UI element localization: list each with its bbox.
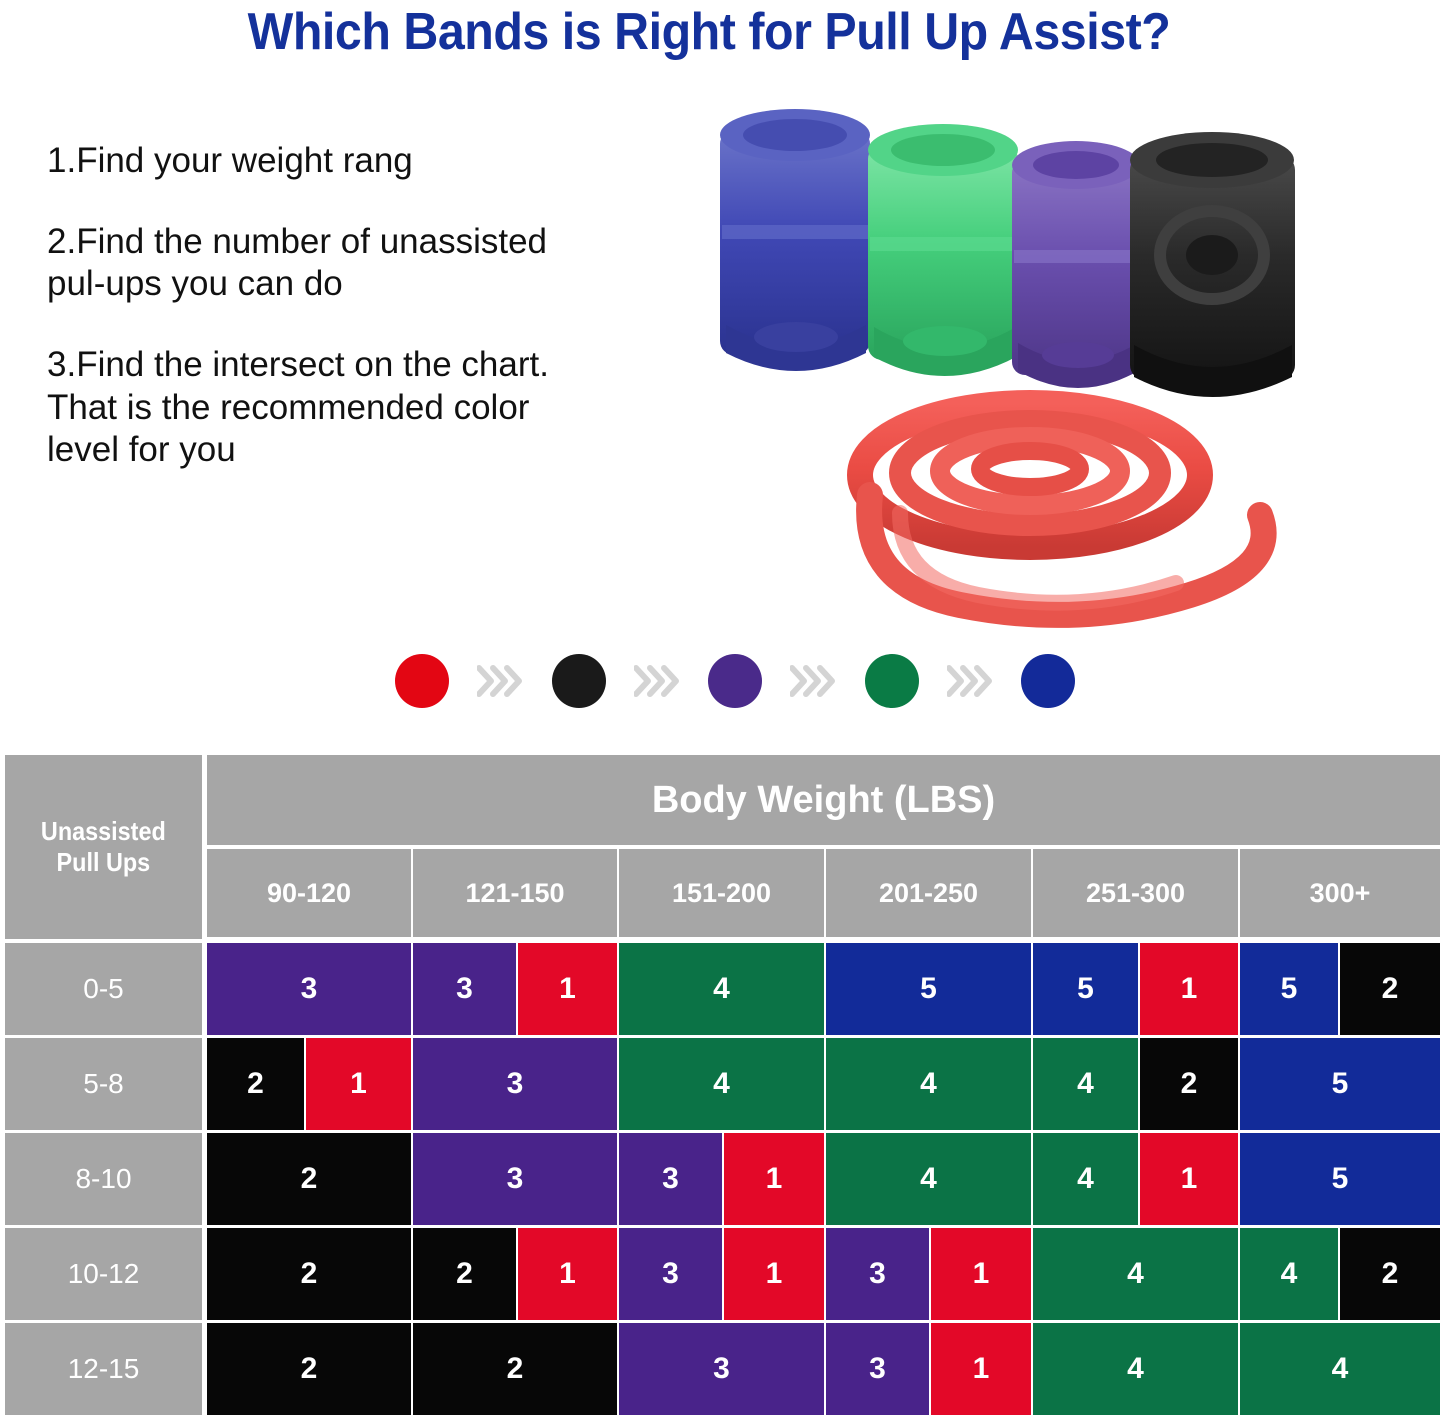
chart-cell-black: 2 xyxy=(1140,1038,1238,1130)
chevron-right-triple-icon-1 xyxy=(477,664,523,698)
chart-cell-red: 1 xyxy=(518,943,617,1035)
band-roll-black xyxy=(1130,132,1295,397)
chart-column-header: 121-150 xyxy=(413,849,617,937)
chart-cell-red: 1 xyxy=(306,1038,411,1130)
band-roll-green xyxy=(868,124,1018,376)
chart-cell-green: 4 xyxy=(1033,1038,1138,1130)
chart-column-header: 251-300 xyxy=(1033,849,1238,937)
instruction-step-3: 3.Find the intersect on the chart. That … xyxy=(47,344,727,472)
chart-cell-green: 4 xyxy=(1033,1228,1238,1320)
instruction-step-2: 2.Find the number of unassisted pul-ups … xyxy=(47,221,727,306)
chart-cell-purple: 3 xyxy=(619,1323,824,1415)
chart-cell-purple: 3 xyxy=(413,943,516,1035)
chevron-right-triple-icon-4 xyxy=(947,664,993,698)
chart-cell-black: 2 xyxy=(1340,943,1440,1035)
chart-row-label: 5-8 xyxy=(5,1038,202,1130)
chart-cell-black: 2 xyxy=(1340,1228,1440,1320)
purple-band-dot xyxy=(708,654,762,708)
green-band-dot xyxy=(865,654,919,708)
resistance-bands-photo xyxy=(700,75,1360,635)
chevron-right-triple-icon-2 xyxy=(634,664,680,698)
chart-cell-purple: 3 xyxy=(826,1323,929,1415)
chart-cell-green: 4 xyxy=(826,1038,1031,1130)
chart-cell-red: 1 xyxy=(518,1228,617,1320)
chart-cell-red: 1 xyxy=(724,1228,824,1320)
chart-cell-black: 2 xyxy=(207,1228,411,1320)
chart-column-header: 151-200 xyxy=(619,849,824,937)
chart-column-header: 300+ xyxy=(1240,849,1440,937)
page-title: Which Bands is Right for Pull Up Assist? xyxy=(50,2,1369,62)
chart-body-weight-header: Body Weight (LBS) xyxy=(207,755,1440,845)
chart-cell-purple: 3 xyxy=(619,1228,722,1320)
chart-row-label: 10-12 xyxy=(5,1228,202,1320)
chart-column-header: 90-120 xyxy=(207,849,411,937)
chart-cell-blue: 5 xyxy=(1240,1038,1440,1130)
black-band-dot xyxy=(552,654,606,708)
chart-cell-red: 1 xyxy=(1140,1133,1238,1225)
chart-cell-green: 4 xyxy=(619,943,824,1035)
band-color-legend xyxy=(395,648,1075,714)
chart-cell-red: 1 xyxy=(931,1228,1031,1320)
band-roll-purple xyxy=(1012,141,1140,388)
instruction-list: 1.Find your weight rang 2.Find the numbe… xyxy=(47,140,727,510)
red-band-dot xyxy=(395,654,449,708)
chart-cell-blue: 5 xyxy=(1240,1133,1440,1225)
chart-cell-black: 2 xyxy=(207,1133,411,1225)
band-roll-blue xyxy=(720,109,870,371)
chart-row-label: 8-10 xyxy=(5,1133,202,1225)
chart-row-label: 0-5 xyxy=(5,943,202,1035)
chart-cell-black: 2 xyxy=(413,1323,617,1415)
chart-cell-purple: 3 xyxy=(413,1038,617,1130)
chart-cell-green: 4 xyxy=(619,1038,824,1130)
chart-cell-blue: 5 xyxy=(1033,943,1138,1035)
chart-cell-green: 4 xyxy=(1240,1323,1440,1415)
blue-band-dot xyxy=(1021,654,1075,708)
chart-corner-header: UnassistedPull Ups xyxy=(5,755,202,939)
chart-cell-black: 2 xyxy=(207,1038,304,1130)
chart-cell-green: 4 xyxy=(826,1133,1031,1225)
chart-cell-purple: 3 xyxy=(207,943,411,1035)
chart-cell-green: 4 xyxy=(1240,1228,1338,1320)
chart-cell-purple: 3 xyxy=(826,1228,929,1320)
chart-cell-purple: 3 xyxy=(619,1133,722,1225)
bands-illustration xyxy=(700,75,1360,635)
chart-column-header: 201-250 xyxy=(826,849,1031,937)
chart-cell-blue: 5 xyxy=(1240,943,1338,1035)
chart-cell-black: 2 xyxy=(207,1323,411,1415)
chevron-right-triple-icon-3 xyxy=(790,664,836,698)
chart-cell-red: 1 xyxy=(724,1133,824,1225)
band-selection-chart: UnassistedPull Ups Body Weight (LBS) 90-… xyxy=(0,752,1445,1419)
instruction-step-1: 1.Find your weight rang xyxy=(47,140,727,183)
chart-cell-purple: 3 xyxy=(413,1133,617,1225)
chart-cell-red: 1 xyxy=(931,1323,1031,1415)
band-coil-red xyxy=(860,403,1264,615)
chart-cell-black: 2 xyxy=(413,1228,516,1320)
chart-cell-red: 1 xyxy=(1140,943,1238,1035)
chart-cell-green: 4 xyxy=(1033,1323,1238,1415)
chart-cell-green: 4 xyxy=(1033,1133,1138,1225)
chart-row-label: 12-15 xyxy=(5,1323,202,1415)
chart-cell-blue: 5 xyxy=(826,943,1031,1035)
